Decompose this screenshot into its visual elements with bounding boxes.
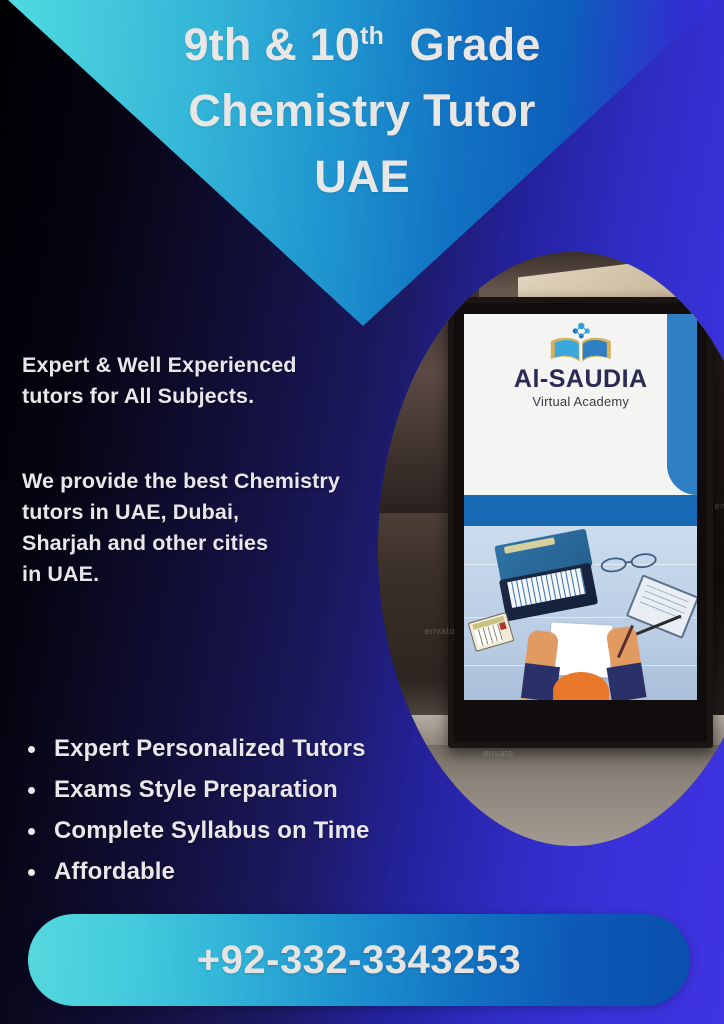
title-line-2: Chemistry Tutor bbox=[0, 78, 724, 144]
list-item: Expert Personalized Tutors bbox=[22, 728, 492, 769]
paragraph-coverage: We provide the best Chemistry tutors in … bbox=[22, 466, 422, 590]
billboard-screen: Al-SAUDIA Virtual Academy bbox=[464, 314, 697, 701]
title-line-3: UAE bbox=[0, 144, 724, 210]
title-line-1-tail: Grade bbox=[384, 19, 540, 70]
body-copy: Expert & Well Experienced tutors for All… bbox=[22, 350, 422, 590]
eyeglasses-icon bbox=[599, 550, 661, 576]
feature-list: Expert Personalized Tutors Exams Style P… bbox=[22, 728, 492, 892]
list-item: Exams Style Preparation bbox=[22, 769, 492, 810]
billboard-accent-band bbox=[464, 495, 697, 526]
open-book-molecule-icon bbox=[546, 321, 616, 365]
phone-cta-pill[interactable]: +92-332-3343253 bbox=[28, 914, 690, 1006]
paragraph-experience: Expert & Well Experienced tutors for All… bbox=[22, 350, 422, 412]
sleeve-right bbox=[606, 663, 646, 700]
title-line-1-main: 9th & 10 bbox=[183, 19, 360, 70]
billboard-logo-panel: Al-SAUDIA Virtual Academy bbox=[464, 314, 697, 496]
calculator-icon bbox=[468, 612, 514, 651]
poster-canvas: 9th & 10th Grade Chemistry Tutor UAE bbox=[0, 0, 724, 1024]
academy-brand-tagline: Virtual Academy bbox=[509, 394, 653, 409]
billboard-illustration-panel bbox=[464, 526, 697, 700]
phone-number: +92-332-3343253 bbox=[197, 938, 521, 983]
notebook-icon bbox=[626, 574, 697, 639]
academy-brand-name: Al-SAUDIA bbox=[509, 367, 653, 392]
billboard-blue-sliver bbox=[667, 314, 697, 496]
title-line-1: 9th & 10th Grade bbox=[0, 12, 724, 78]
list-item: Complete Syllabus on Time bbox=[22, 810, 492, 851]
academy-logo: Al-SAUDIA Virtual Academy bbox=[509, 321, 653, 409]
title-ordinal-superscript: th bbox=[360, 22, 384, 50]
billboard-frame: Al-SAUDIA Virtual Academy bbox=[448, 297, 713, 748]
page-title: 9th & 10th Grade Chemistry Tutor UAE bbox=[0, 12, 724, 210]
desk-illustration bbox=[464, 526, 697, 700]
list-item: Affordable bbox=[22, 851, 492, 892]
